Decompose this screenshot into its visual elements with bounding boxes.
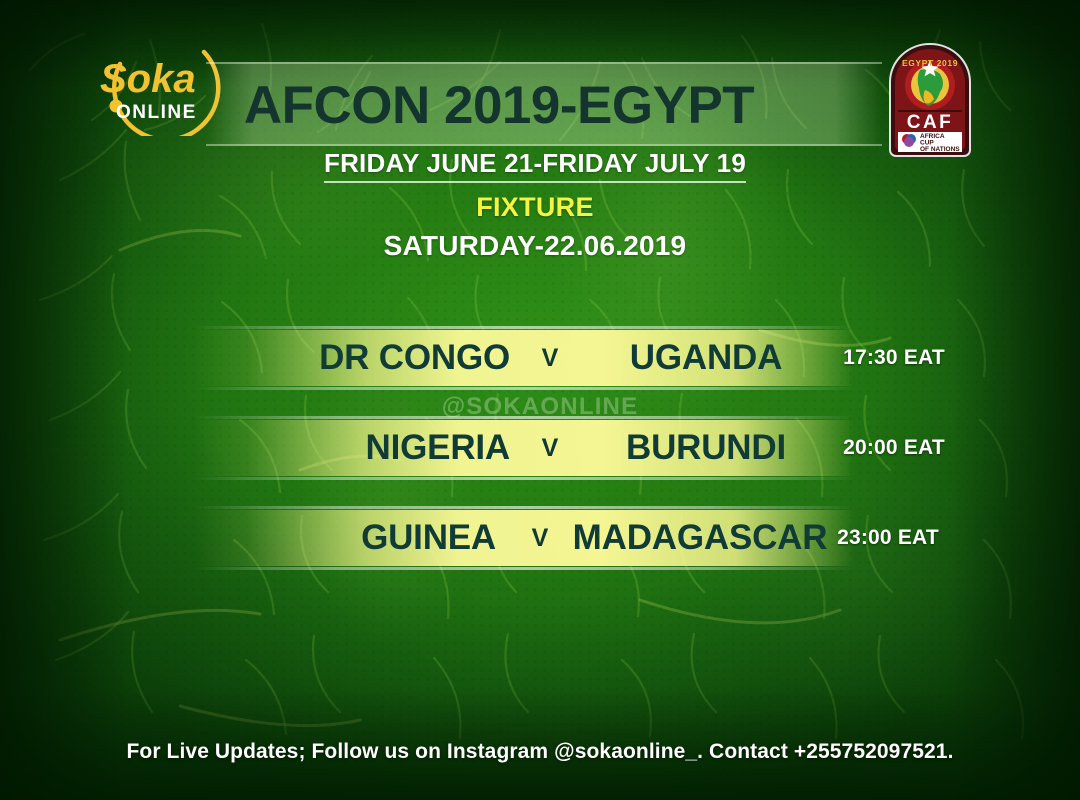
- home-team: DR CONGO: [250, 338, 510, 378]
- fixture-row[interactable]: GUINEA V MADAGASCAR 23:00 EAT: [0, 510, 1080, 566]
- tournament-date-range: FRIDAY JUNE 21-FRIDAY JULY 19: [324, 148, 746, 183]
- kickoff-time: 20:00 EAT: [824, 436, 964, 460]
- kickoff-time: 23:00 EAT: [818, 526, 958, 550]
- kickoff-time: 17:30 EAT: [824, 346, 964, 370]
- versus-separator: V: [530, 344, 570, 373]
- badge-acronym: CAF: [907, 112, 954, 133]
- footer-contact: For Live Updates; Follow us on Instagram…: [0, 740, 1080, 764]
- away-team: UGANDA: [586, 338, 826, 378]
- versus-separator: V: [530, 434, 570, 463]
- fixture-row[interactable]: NIGERIA V BURUNDI 20:00 EAT: [0, 420, 1080, 476]
- watermark: @SOKAONLINE: [0, 393, 1080, 421]
- fixture-date: SATURDAY-22.06.2019: [0, 230, 1070, 262]
- badge-line3: OF NATIONS: [920, 146, 960, 153]
- section-label: FIXTURE: [0, 192, 1070, 223]
- fixture-list: DR CONGO V UGANDA 17:30 EAT NIGERIA V BU…: [0, 330, 1080, 600]
- away-team: MADAGASCAR: [560, 518, 840, 558]
- caf-logo: EGYPT 2019 CAF AFRICA CUP OF NATIONS: [884, 42, 976, 160]
- away-team: BURUNDI: [586, 428, 826, 468]
- home-team: NIGERIA: [250, 428, 510, 468]
- fixture-row[interactable]: DR CONGO V UGANDA 17:30 EAT: [0, 330, 1080, 386]
- badge-top-text: EGYPT 2019: [902, 58, 958, 68]
- subheader: FRIDAY JUNE 21-FRIDAY JULY 19 FIXTURE SA…: [0, 148, 1080, 262]
- versus-separator: V: [520, 524, 560, 553]
- home-team: GUINEA: [236, 518, 496, 558]
- fixture-poster: Soka ONLINE AFCON 2019-EGYPT FRIDAY JUNE…: [0, 0, 1080, 800]
